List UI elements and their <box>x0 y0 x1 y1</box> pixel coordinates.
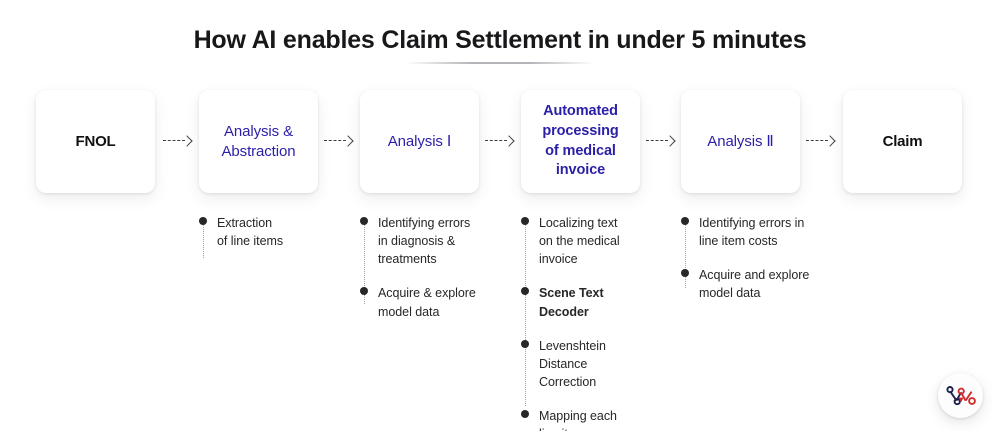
arrow-head-icon <box>342 135 353 146</box>
page-title: How AI enables Claim Settlement in under… <box>0 26 1000 55</box>
list-item-label: Scene Text Decoder <box>539 286 604 318</box>
bullet-dot-icon <box>521 340 529 348</box>
bullet-dot-icon <box>199 217 207 225</box>
bullet-dot-icon <box>681 217 689 225</box>
flow-arrow-1 <box>163 135 195 147</box>
flow-node-claim[interactable]: Claim <box>843 90 962 193</box>
flow-node-analysis-abstraction[interactable]: Analysis & Abstraction <box>199 90 318 193</box>
bullet-dot-icon <box>521 287 529 295</box>
list-item-label: Extraction of line items <box>217 216 283 248</box>
graph-network-logo-icon <box>945 384 977 408</box>
list-item: Scene Text Decoder <box>521 284 641 320</box>
list-item: Acquire and explore model data <box>681 266 821 302</box>
flow-node-fnol[interactable]: FNOL <box>36 90 155 193</box>
flow-arrow-4 <box>646 135 678 147</box>
list-item-label: Mapping each line item <box>539 409 617 431</box>
bullet-dot-icon <box>360 287 368 295</box>
flow-node-label: FNOL <box>75 132 115 152</box>
bullet-dot-icon <box>681 269 689 277</box>
flow-node-label: Claim <box>883 132 923 152</box>
list-item: Identifying errors in line item costs <box>681 214 821 250</box>
flow-arrow-5 <box>806 135 838 147</box>
diagram-canvas: How AI enables Claim Settlement in under… <box>0 0 1000 431</box>
flow-node-analysis-2[interactable]: Analysis Ⅱ <box>681 90 800 193</box>
arrow-head-icon <box>824 135 835 146</box>
list-item: Acquire & explore model data <box>360 284 485 320</box>
list-item-label: Localizing text on the medical invoice <box>539 216 620 266</box>
list-item: Identifying errors in diagnosis & treatm… <box>360 214 485 268</box>
list-item: Extraction of line items <box>199 214 319 250</box>
flow-node-label: Automated processing of medical invoice <box>542 102 618 180</box>
bullet-dot-icon <box>521 217 529 225</box>
arrow-head-icon <box>181 135 192 146</box>
bullet-dot-icon <box>360 217 368 225</box>
flow-node-automated-processing[interactable]: Automated processing of medical invoice <box>521 90 640 193</box>
flow-node-label: Analysis & Abstraction <box>222 122 296 161</box>
flow-arrow-2 <box>324 135 356 147</box>
flow-arrow-3 <box>485 135 517 147</box>
list-item-label: Identifying errors in line item costs <box>699 216 804 248</box>
flow-node-label: Analysis Ⅱ <box>707 132 773 152</box>
detail-column-analysis-abstraction: Extraction of line items <box>199 214 319 250</box>
flow-node-label: Analysis Ⅰ <box>388 132 451 152</box>
list-item: Localizing text on the medical invoice <box>521 214 641 268</box>
arrow-head-icon <box>664 135 675 146</box>
detail-column-analysis-2: Identifying errors in line item costs Ac… <box>681 214 821 303</box>
bullet-dot-icon <box>521 410 529 418</box>
list-item: Levenshtein Distance Correction <box>521 337 641 391</box>
arrow-head-icon <box>503 135 514 146</box>
list-item-label: Acquire & explore model data <box>378 286 476 318</box>
list-item: Mapping each line item <box>521 407 641 431</box>
brand-logo-badge[interactable] <box>938 373 983 418</box>
detail-column-analysis-1: Identifying errors in diagnosis & treatm… <box>360 214 485 321</box>
detail-column-automated-processing: Localizing text on the medical invoice S… <box>521 214 641 431</box>
flow-node-analysis-1[interactable]: Analysis Ⅰ <box>360 90 479 193</box>
list-item-label: Levenshtein Distance Correction <box>539 339 606 389</box>
title-divider <box>405 62 595 64</box>
list-item-label: Acquire and explore model data <box>699 268 809 300</box>
list-item-label: Identifying errors in diagnosis & treatm… <box>378 216 470 266</box>
